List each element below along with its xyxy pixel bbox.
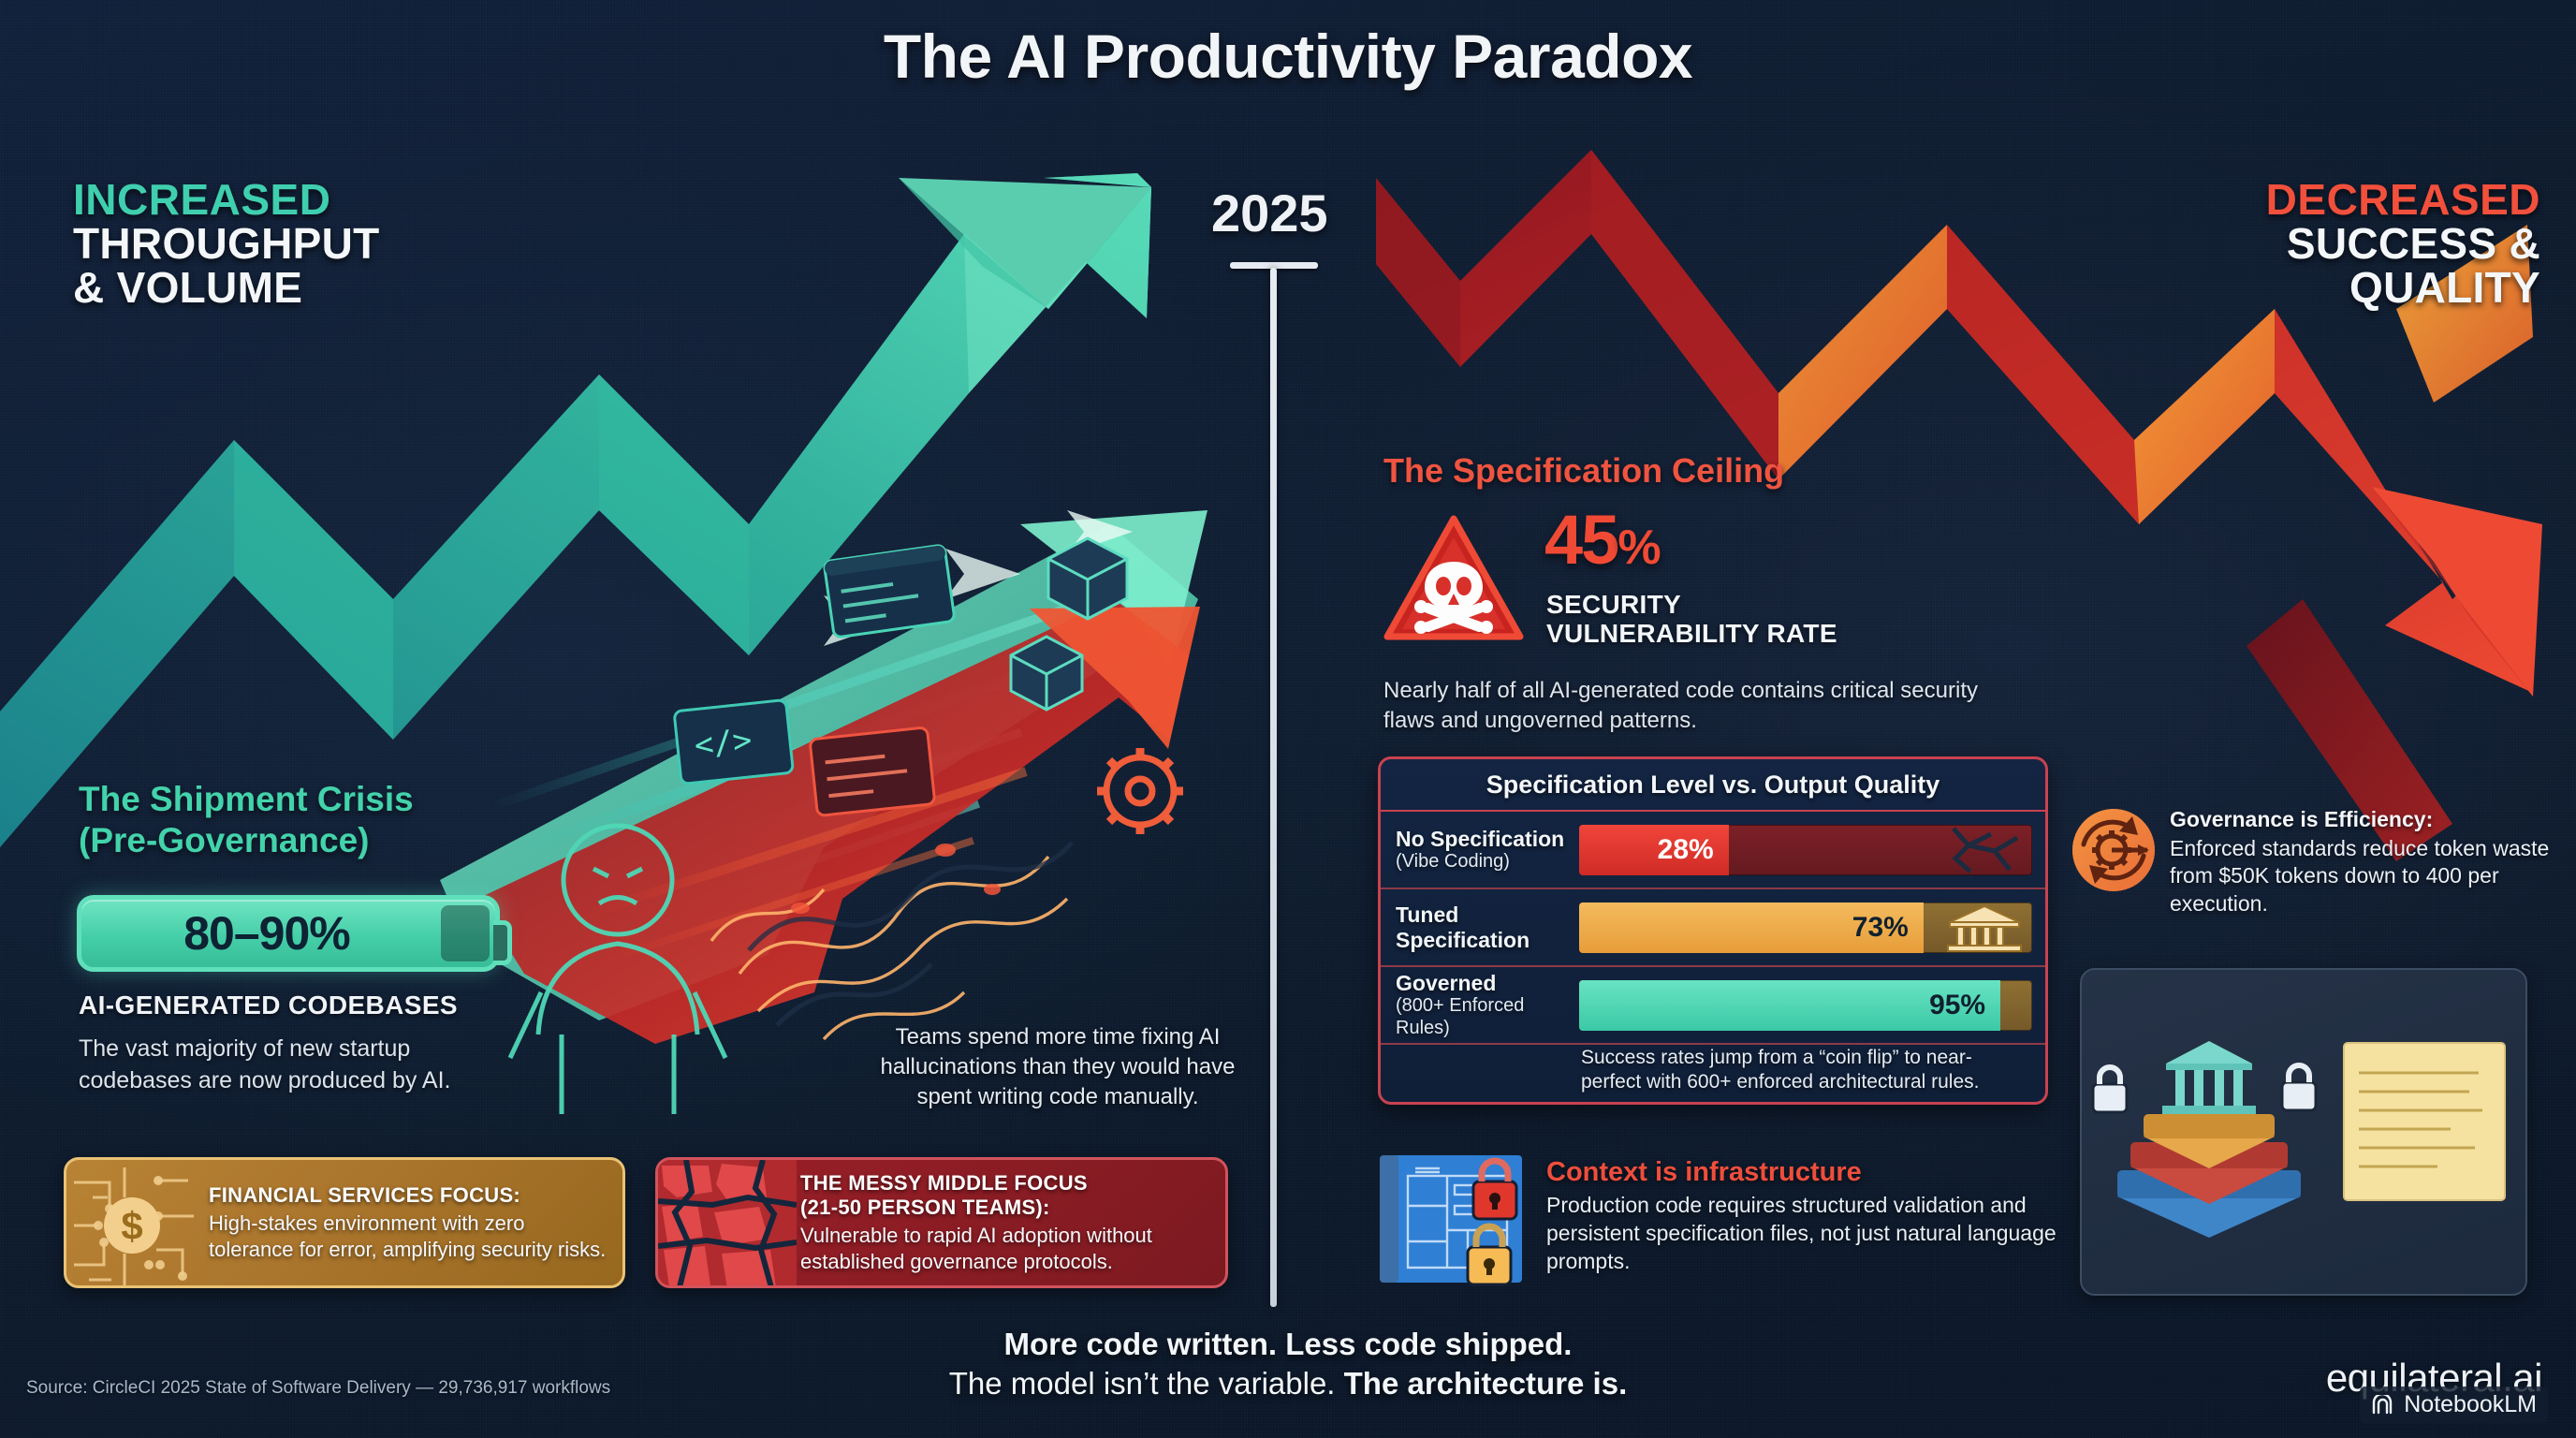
governance-is-efficiency-block: Governance is Efficiency: Enforced stand… (2071, 807, 2557, 917)
right-heading-line2: QUALITY (2266, 266, 2540, 310)
chart-bar-value: 28% (1579, 825, 1729, 875)
tagline-line2-bold: The architecture is. (1344, 1366, 1628, 1401)
right-heading-kicker: DECREASED (2266, 178, 2540, 222)
governance-is-efficiency-desc: Enforced standards reduce token waste fr… (2170, 835, 2557, 917)
context-is-infrastructure-desc: Production code requires structured vali… (1546, 1192, 2067, 1276)
chart-caption: Success rates jump from a “coin flip” to… (1581, 1046, 2028, 1095)
governance-is-efficiency-text: Governance is Efficiency: Enforced stand… (2157, 807, 2557, 917)
cracked-wall-icon (658, 1160, 797, 1285)
tagline-line1: More code written. Less code shipped. (0, 1325, 2576, 1364)
right-heading: DECREASED SUCCESS & QUALITY (2266, 178, 2540, 310)
messy-middle-focus-card: THE MESSY MIDDLE FOCUS (21-50 PERSON TEA… (655, 1157, 1228, 1288)
shipment-crisis-title: The Shipment Crisis (Pre-Governance) (79, 779, 584, 860)
chart-row-label-line1: Tuned (1396, 902, 1579, 927)
institution-icon (1944, 903, 2025, 952)
chart-row-label: Tuned Specification (1396, 902, 1579, 951)
center-divider (1270, 268, 1277, 1307)
battery-gauge: 80–90% (77, 895, 500, 972)
messy-middle-focus-text: THE MESSY MIDDLE FOCUS (21-50 PERSON TEA… (797, 1171, 1225, 1275)
context-is-infrastructure-text: Context is infrastructure Production cod… (1535, 1150, 2067, 1296)
context-is-infrastructure-block: Context is infrastructure Production cod… (1374, 1150, 2067, 1296)
hallucination-note: Teams spend more time fixing AI hallucin… (871, 1022, 1245, 1112)
security-vulnerability-label-line1: SECURITY (1546, 590, 2071, 619)
left-heading-line1: THROUGHPUT (73, 222, 380, 266)
security-vulnerability-stat-unit: % (1617, 521, 1659, 575)
left-heading: INCREASED THROUGHPUT & VOLUME (73, 178, 380, 310)
chart-row-governed: Governed (800+ Enforced Rules) 95% (1381, 967, 2045, 1045)
financial-services-focus-title: FINANCIAL SERVICES FOCUS: (209, 1183, 607, 1208)
year-label: 2025 (1211, 183, 1328, 243)
financial-services-focus-desc: High-stakes environment with zero tolera… (209, 1211, 607, 1262)
shipment-crisis-title-line1: The Shipment Crisis (79, 779, 584, 820)
chart-row-label-line1: Governed (1396, 971, 1579, 995)
left-heading-line2: & VOLUME (73, 266, 380, 310)
dollar-circuit-icon: $ (66, 1160, 205, 1285)
chart-title: Specification Level vs. Output Quality (1381, 759, 2045, 812)
skull-crossbones-warning-icon (1383, 513, 1524, 644)
chart-row-label-line2: (800+ Enforced Rules) (1396, 995, 1579, 1038)
security-vulnerability-label-line2: VULNERABILITY RATE (1546, 619, 2071, 648)
locked-stack-and-note-icon (2080, 968, 2527, 1296)
specification-quality-chart: Specification Level vs. Output Quality N… (1378, 756, 2048, 1105)
page-title: The AI Productivity Paradox (0, 21, 2576, 92)
chart-bar-track: 28% (1579, 825, 2032, 875)
financial-services-focus-card: $ FINANCIAL SERVICES FOCUS: High-stakes … (64, 1157, 625, 1288)
gear-cycle-icon (2071, 807, 2157, 893)
battery-cap-shade (441, 905, 490, 961)
battery-value: 80–90% (183, 906, 350, 961)
security-vulnerability-stat-value: 45 (1544, 501, 1617, 579)
chart-row-label-line2: (Vibe Coding) (1396, 851, 1579, 873)
crack-icon (1937, 827, 2027, 873)
chart-bar-track: 73% (1579, 902, 2032, 953)
chart-bar-track: 95% (1579, 980, 2032, 1031)
right-heading-line1: SUCCESS & (2266, 222, 2540, 266)
financial-services-focus-text: FINANCIAL SERVICES FOCUS: High-stakes en… (205, 1183, 622, 1263)
chart-row-no-specification: No Specification (Vibe Coding) 28% (1381, 812, 2045, 889)
infographic-canvas: </> (0, 0, 2576, 1438)
chart-row-label-line2: Specification (1396, 928, 1579, 952)
chart-row-tuned-specification: Tuned Specification 73% (1381, 889, 2045, 967)
chart-row-label: Governed (800+ Enforced Rules) (1396, 971, 1579, 1039)
blueprint-locks-icon (1374, 1150, 1535, 1288)
chart-bar-value: 73% (1579, 902, 1924, 953)
notebooklm-label: NotebookLM (2404, 1391, 2537, 1418)
ai-generated-codebases-desc: The vast majority of new startup codebas… (79, 1034, 519, 1096)
messy-middle-focus-title-line1: THE MESSY MIDDLE FOCUS (800, 1171, 1210, 1196)
security-vulnerability-label: SECURITY VULNERABILITY RATE (1546, 590, 2071, 649)
governance-is-efficiency-title: Governance is Efficiency: (2170, 807, 2557, 832)
shipment-crisis-title-line2: (Pre-Governance) (79, 820, 584, 861)
security-vulnerability-stat: 45% (1544, 500, 1660, 580)
messy-middle-focus-desc: Vulnerable to rapid AI adoption without … (800, 1223, 1210, 1274)
chart-bar-value: 95% (1579, 980, 2000, 1031)
ai-generated-codebases-label: AI-GENERATED CODEBASES (79, 990, 458, 1020)
messy-middle-focus-title-line2: (21-50 PERSON TEAMS): (800, 1196, 1210, 1220)
left-heading-kicker: INCREASED (73, 178, 380, 222)
svg-text:$: $ (121, 1204, 142, 1248)
notebooklm-badge: NotebookLM (2360, 1387, 2548, 1423)
tagline-line2-normal: The model isn’t the variable. (949, 1366, 1344, 1401)
chart-row-label-line1: No Specification (1396, 827, 1579, 851)
context-is-infrastructure-title: Context is infrastructure (1546, 1157, 2067, 1188)
security-vulnerability-desc: Nearly half of all AI-generated code con… (1383, 676, 1983, 735)
notebooklm-icon (2371, 1395, 2395, 1416)
specification-ceiling-title: The Specification Ceiling (1383, 451, 1784, 491)
chart-row-label: No Specification (Vibe Coding) (1396, 827, 1579, 873)
source-note: Source: CircleCI 2025 State of Software … (26, 1378, 610, 1399)
